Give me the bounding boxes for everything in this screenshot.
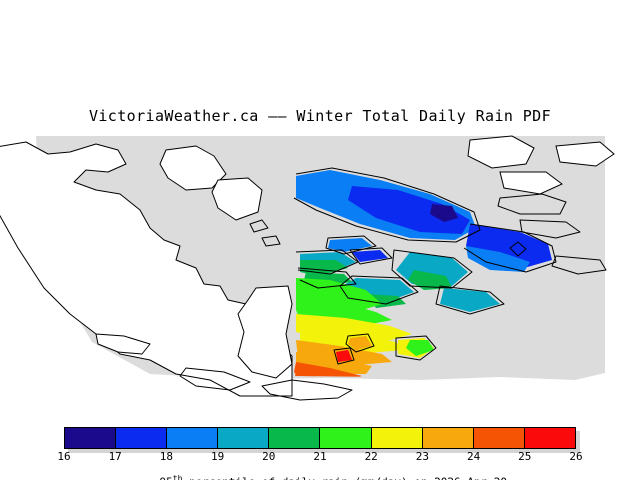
colorbar-band-9 (525, 428, 575, 448)
colorbar-band-6 (372, 428, 423, 448)
caption-superscript: th (173, 474, 183, 480)
colorbar-band-7 (423, 428, 474, 448)
colorbar-band-5 (320, 428, 371, 448)
colorbar-band-2 (167, 428, 218, 448)
colorbar (64, 427, 576, 449)
colorbar-band-1 (116, 428, 167, 448)
weather-map-page: VictoriaWeather.ca —— Winter Total Daily… (0, 0, 640, 480)
colorbar-band-8 (474, 428, 525, 448)
colorbar-bands (64, 427, 576, 449)
colorbar-band-4 (269, 428, 320, 448)
map-svg (0, 128, 640, 413)
caption-rest: percentile of daily rain (mm/day) on 202… (182, 476, 507, 480)
page-title: VictoriaWeather.ca —— Winter Total Daily… (0, 107, 640, 125)
caption-prefix: 95 (160, 476, 173, 480)
colorbar-caption: 95th percentile of daily rain (mm/day) o… (0, 461, 640, 480)
colorbar-band-3 (218, 428, 269, 448)
colorbar-band-0 (65, 428, 116, 448)
map-canvas (0, 128, 640, 413)
